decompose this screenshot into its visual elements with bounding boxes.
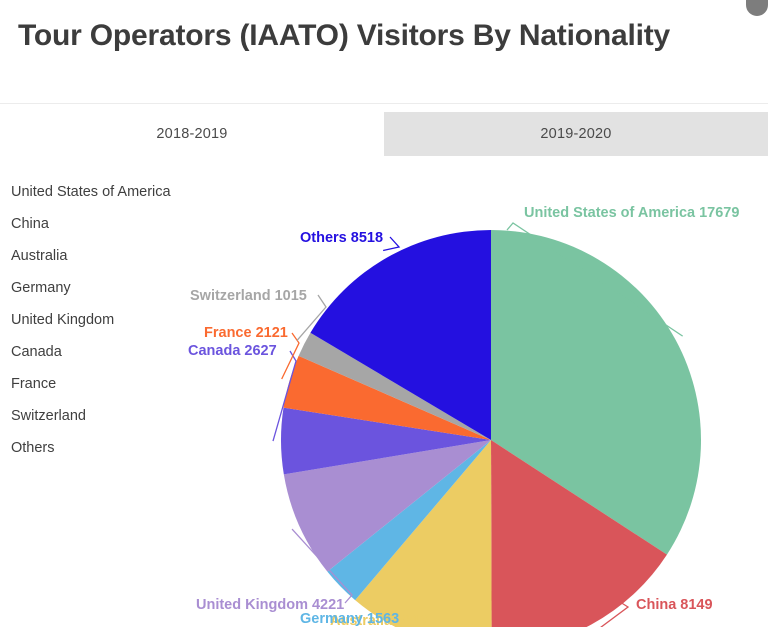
leader-line (383, 237, 399, 251)
pie-data-label: Others 8518 (300, 230, 383, 246)
pie-data-label: Switzerland 1015 (190, 288, 307, 304)
app-root: Tour Operators (IAATO) Visitors By Natio… (0, 0, 768, 627)
pie-svg: United States of America 17679China 8149… (0, 155, 768, 627)
pie-data-label: United Kingdom 4221 (196, 597, 344, 613)
tab-label: 2018-2019 (156, 126, 227, 142)
pie-data-label: Canada 2627 (188, 343, 277, 359)
pie-data-label: France 2121 (204, 325, 288, 341)
pie-chart: United States of America 17679China 8149… (0, 155, 768, 627)
pie-data-label: United States of America 17679 (524, 205, 739, 221)
pie-slices (281, 230, 701, 627)
tab-2019-2020[interactable]: 2019-2020 (384, 112, 768, 156)
header: Tour Operators (IAATO) Visitors By Natio… (0, 0, 768, 103)
tab-label: 2019-2020 (540, 126, 611, 142)
pie-data-label: Germany 1563 (300, 611, 399, 627)
pie-data-label: China 8149 (636, 597, 713, 613)
tab-bar: 2018-2019 2019-2020 (0, 103, 768, 155)
tab-2018-2019[interactable]: 2018-2019 (0, 112, 384, 156)
page-title: Tour Operators (IAATO) Visitors By Natio… (18, 19, 670, 53)
